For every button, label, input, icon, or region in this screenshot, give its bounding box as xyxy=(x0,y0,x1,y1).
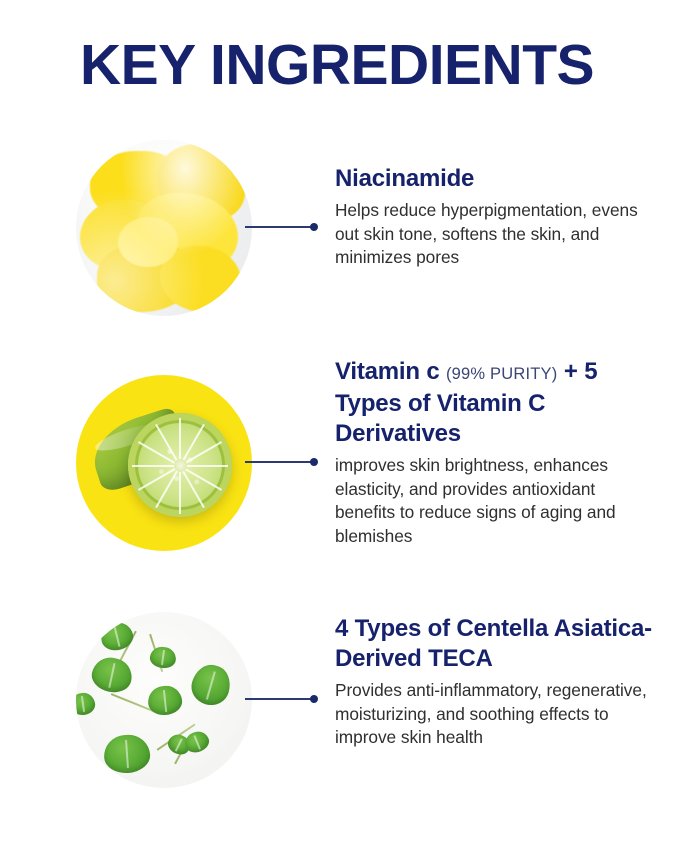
ingredient-text-niacinamide: Niacinamide Helps reduce hyperpigmentati… xyxy=(335,164,655,270)
lime-core xyxy=(174,459,187,472)
ingredient-text-vitamin-c: Vitamin c (99% PURITY) + 5 Types of Vita… xyxy=(335,357,655,548)
vitamin-c-purity: (99% PURITY) xyxy=(446,365,558,383)
lime-on-yellow-circle xyxy=(76,375,252,551)
connector-dot xyxy=(310,458,318,466)
plus-symbol: + xyxy=(564,358,578,385)
ingredient-image-teca xyxy=(76,612,252,788)
connector-dot xyxy=(310,695,318,703)
connector-line-teca xyxy=(245,698,315,700)
yellow-gel-texture-circle xyxy=(76,140,252,316)
page-title: KEY INGREDIENTS xyxy=(80,36,610,96)
ingredient-heading: Niacinamide xyxy=(335,164,655,194)
connector-line-vitamin-c xyxy=(245,461,315,463)
ingredient-image-niacinamide xyxy=(76,140,252,316)
ingredient-description: Provides anti-inflammatory, regenerative… xyxy=(335,679,655,750)
centella-leaves-circle xyxy=(76,612,252,788)
connector-line-niacinamide xyxy=(245,226,315,228)
ingredient-description: Helps reduce hyperpigmentation, evens ou… xyxy=(335,199,655,270)
lime-half xyxy=(128,413,232,517)
infographic-page: KEY INGREDIENTS Niacinamide Helps reduce… xyxy=(0,0,679,849)
vitamin-c-name: Vitamin c xyxy=(335,358,439,385)
ingredient-heading: 4 Types of Centella Asiatica-Derived TEC… xyxy=(335,614,655,674)
ingredient-description: improves skin brightness, enhances elast… xyxy=(335,454,655,548)
gel-highlight xyxy=(76,140,252,316)
ingredient-text-teca: 4 Types of Centella Asiatica-Derived TEC… xyxy=(335,614,655,750)
ingredient-image-vitamin-c xyxy=(76,375,252,551)
connector-dot xyxy=(310,223,318,231)
ingredient-heading: Vitamin c (99% PURITY) + 5 Types of Vita… xyxy=(335,357,655,449)
